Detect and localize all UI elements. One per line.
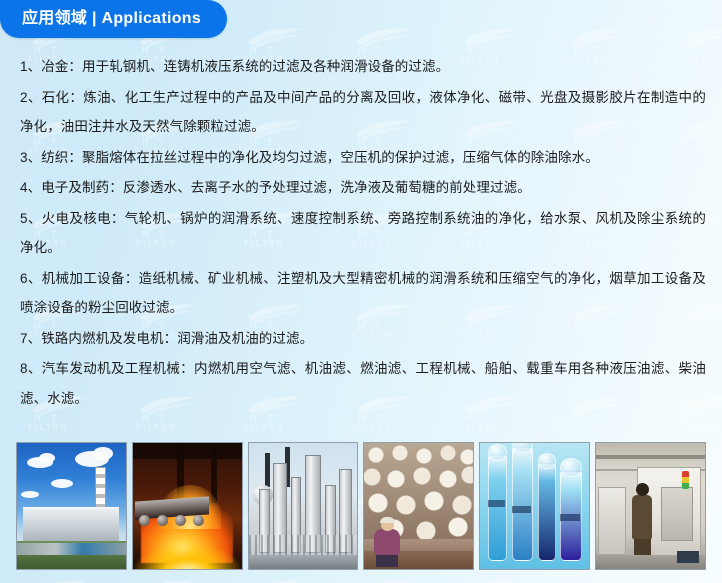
application-item-2: 2、石化：炼油、化工生产过程中的产品及中间产品的分离及回收，液体净化、磁带、光盘… xyxy=(20,83,706,142)
swoosh-icon xyxy=(246,26,304,48)
watermark-ht-text: H T xyxy=(466,413,493,423)
ht-filter-watermark: H TFILTER xyxy=(670,578,722,583)
oil-refinery-photo xyxy=(248,442,359,570)
swoosh-icon xyxy=(138,578,196,583)
watermark-ht-text: H T xyxy=(682,413,709,423)
watermark-filter-text: FILTER xyxy=(136,423,177,432)
swoosh-icon xyxy=(570,578,628,583)
application-item-7: 7、铁路内燃机及发电机：润滑油及机油的过滤。 xyxy=(20,324,706,354)
cnc-machine-photo xyxy=(595,442,706,570)
lab-glassware-photo xyxy=(479,442,590,570)
watermark-filter-text: FILTER xyxy=(676,423,717,432)
section-header-applications: 应用领域 | Applications xyxy=(0,0,227,38)
applications-page: H TFILTERH TFILTERH TFILTERH TFILTERH TF… xyxy=(0,0,722,583)
application-item-1: 1、冶金：用于轧钢机、连铸机液压系统的过滤及各种润滑设备的过滤。 xyxy=(20,52,706,82)
swoosh-icon xyxy=(354,26,412,48)
ht-filter-watermark: H TFILTER xyxy=(238,578,312,583)
swoosh-icon xyxy=(570,26,628,48)
swoosh-icon xyxy=(678,578,722,583)
swoosh-icon xyxy=(462,26,520,48)
application-item-8: 8、汽车发动机及工程机械：内燃机用空气滤、机油滤、燃油滤、工程机械、船舶、载重车… xyxy=(20,354,706,413)
watermark-filter-text: FILTER xyxy=(28,423,69,432)
watermark-filter-text: FILTER xyxy=(568,423,609,432)
application-item-3: 3、纺织：聚脂熔体在拉丝过程中的净化及均匀过滤，空压机的保护过滤，压缩气体的除油… xyxy=(20,143,706,173)
watermark-ht-text: H T xyxy=(34,413,61,423)
watermark-ht-text: H T xyxy=(358,413,385,423)
textile-mill-photo xyxy=(363,442,474,570)
watermark-ht-text: H T xyxy=(142,413,169,423)
page-title: 应用领域 | Applications xyxy=(22,11,201,27)
watermark-ht-text: H T xyxy=(250,413,277,423)
ht-filter-watermark: H TFILTER xyxy=(454,578,528,583)
watermark-filter-text: FILTER xyxy=(352,423,393,432)
power-plant-photo xyxy=(16,442,127,570)
applications-list: 1、冶金：用于轧钢机、连铸机液压系统的过滤及各种润滑设备的过滤。 2、石化：炼油… xyxy=(20,52,706,414)
application-photo-gallery xyxy=(16,442,706,570)
ht-filter-watermark: H TFILTER xyxy=(346,578,420,583)
swoosh-icon xyxy=(246,578,304,583)
swoosh-icon xyxy=(678,26,722,48)
swoosh-icon xyxy=(462,578,520,583)
swoosh-icon xyxy=(354,578,412,583)
ht-filter-watermark: H TFILTER xyxy=(562,578,636,583)
ht-filter-watermark: H TFILTER xyxy=(22,578,96,583)
application-item-6: 6、机械加工设备：造纸机械、矿业机械、注塑机及大型精密机械的润滑系统和压缩空气的… xyxy=(20,264,706,323)
steel-furnace-photo xyxy=(132,442,243,570)
watermark-filter-text: FILTER xyxy=(460,423,501,432)
swoosh-icon xyxy=(30,578,88,583)
application-item-5: 5、火电及核电：气轮机、锅炉的润滑系统、速度控制系统、旁路控制系统油的净化，给水… xyxy=(20,204,706,263)
watermark-filter-text: FILTER xyxy=(244,423,285,432)
watermark-ht-text: H T xyxy=(574,413,601,423)
application-item-4: 4、电子及制药：反渗透水、去离子水的予处理过滤，洗净液及葡萄糖的前处理过滤。 xyxy=(20,173,706,203)
ht-filter-watermark: H TFILTER xyxy=(130,578,204,583)
